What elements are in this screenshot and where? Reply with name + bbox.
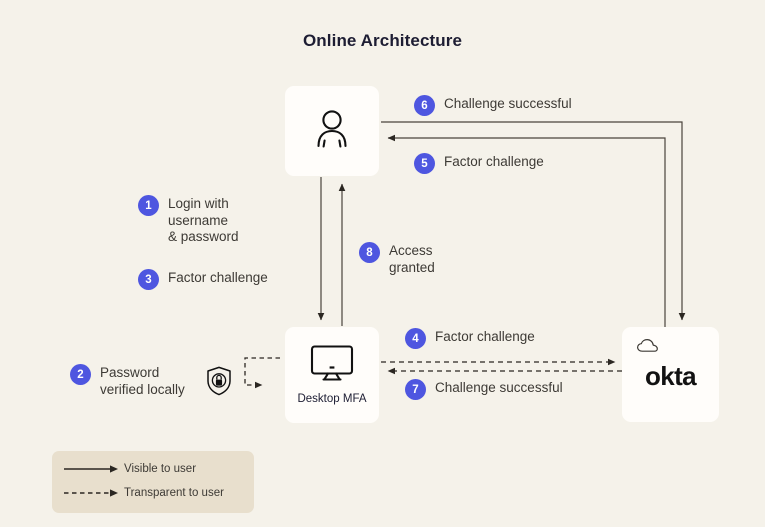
legend-label: Visible to user <box>124 463 196 475</box>
step-badge: 5 <box>414 153 435 174</box>
connector-user-to-okta <box>381 122 682 320</box>
step-text: Factor challenge <box>435 329 535 346</box>
step-text: Login with username & password <box>168 196 239 246</box>
dashed-arrow-icon <box>64 486 124 500</box>
shield-lock-icon <box>206 366 232 401</box>
cloud-icon <box>636 338 660 359</box>
step-badge: 8 <box>359 242 380 263</box>
node-okta[interactable]: okta <box>622 327 719 422</box>
step-text: Factor challenge <box>444 154 544 171</box>
monitor-icon <box>309 344 355 387</box>
step-badge: 3 <box>138 269 159 290</box>
page-title: Online Architecture <box>0 31 765 51</box>
step-text: Challenge successful <box>435 380 563 397</box>
step-label-7: 7 Challenge successful <box>405 379 563 400</box>
step-text: Factor challenge <box>168 270 268 287</box>
legend-label: Transparent to user <box>124 487 224 499</box>
node-user[interactable] <box>285 86 379 176</box>
person-icon <box>312 108 352 155</box>
step-badge: 4 <box>405 328 426 349</box>
legend-row-visible: Visible to user <box>52 459 254 479</box>
step-label-8: 8 Access granted <box>359 242 435 276</box>
solid-arrow-icon <box>64 462 124 476</box>
diagram-canvas: Online Architecture Desktop MFA <box>0 0 765 527</box>
step-label-2: 2 Password verified locally <box>70 364 185 398</box>
step-label-3: 3 Factor challenge <box>138 269 268 290</box>
node-okta-label: okta <box>645 361 696 392</box>
step-badge: 7 <box>405 379 426 400</box>
step-label-4: 4 Factor challenge <box>405 328 535 349</box>
step-label-5: 5 Factor challenge <box>414 153 544 174</box>
step-text: Access granted <box>389 243 435 276</box>
node-desktop-label: Desktop MFA <box>297 393 366 406</box>
connector-shield-local-dashed <box>245 358 280 385</box>
step-text: Challenge successful <box>444 96 572 113</box>
step-badge: 2 <box>70 364 91 385</box>
step-badge: 6 <box>414 95 435 116</box>
legend: Visible to user Transparent to user <box>52 451 254 513</box>
legend-row-transparent: Transparent to user <box>52 483 254 503</box>
step-badge: 1 <box>138 195 159 216</box>
step-label-6: 6 Challenge successful <box>414 95 572 116</box>
node-desktop-mfa[interactable]: Desktop MFA <box>285 327 379 423</box>
step-text: Password verified locally <box>100 365 185 398</box>
step-label-1: 1 Login with username & password <box>138 195 239 246</box>
